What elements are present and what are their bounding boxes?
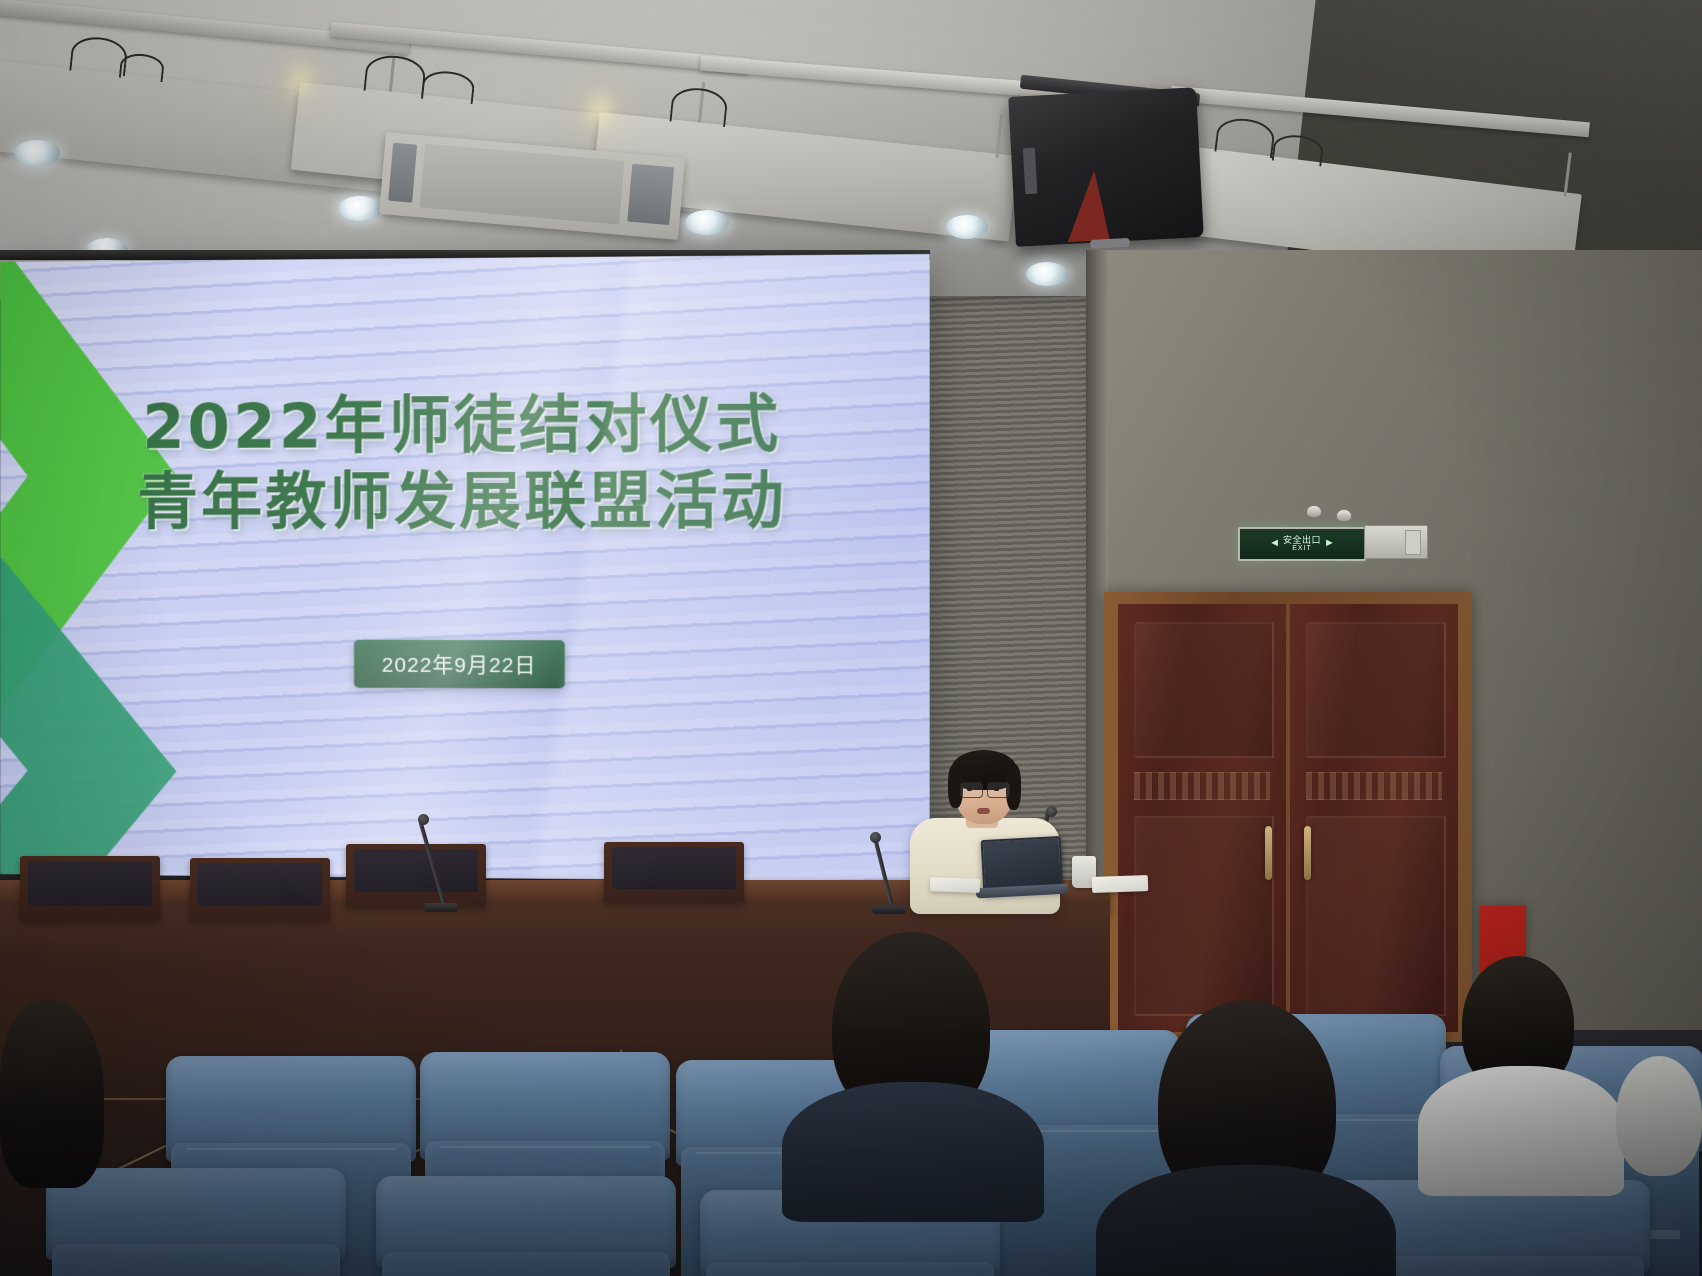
microphone[interactable] (424, 812, 464, 912)
conference-hall-photo: ◄ 安全出口 EXIT ► 2022年师徒结对仪式 青年教师发展联盟 (0, 0, 1702, 1276)
door-handle-left[interactable] (1265, 826, 1272, 880)
presenter-eye (967, 788, 972, 791)
exit-sign: ◄ 安全出口 EXIT ► (1238, 527, 1366, 561)
audience-person (1462, 956, 1574, 1092)
audience-shoulders (1418, 1066, 1624, 1196)
door-right[interactable] (1290, 604, 1458, 1032)
audience-person (1616, 1056, 1702, 1176)
seat-number-tag (1646, 1230, 1680, 1239)
downlight (1026, 262, 1068, 286)
downlight (946, 215, 988, 239)
ceiling-speaker (1008, 87, 1204, 247)
exit-arrow-right-icon: ► (1324, 538, 1335, 549)
door-panel (1134, 622, 1274, 758)
audience-shoulders (782, 1082, 1044, 1222)
door-handle-right[interactable] (1304, 826, 1311, 880)
stage-chair[interactable] (346, 844, 486, 906)
stage-chair[interactable] (190, 858, 330, 920)
exit-sign-label-en: EXIT (1292, 545, 1312, 552)
exit-arrow-left-icon: ◄ (1269, 538, 1280, 549)
stage-chair[interactable] (604, 842, 744, 902)
downlight (14, 140, 60, 166)
documents[interactable] (1092, 875, 1149, 893)
door-carving (1306, 772, 1442, 800)
led-presentation-screen: 2022年师徒结对仪式 青年教师发展联盟活动 2022年9月22日 (0, 254, 929, 882)
door-panel (1306, 622, 1446, 758)
auditorium-seat[interactable] (376, 1176, 676, 1276)
door-panel (1306, 816, 1446, 1016)
exit-sign-label-cn: 安全出口 (1283, 536, 1321, 545)
audience-person (0, 1000, 104, 1188)
speaker-red-marking (1064, 170, 1110, 242)
stage-chair[interactable] (20, 856, 160, 920)
emergency-lamp-icon (1336, 509, 1352, 522)
documents[interactable] (930, 877, 980, 893)
audience-person (832, 932, 990, 1122)
downlight (338, 196, 382, 221)
emergency-light-unit (1364, 525, 1428, 559)
audience-person (1158, 1000, 1336, 1210)
door-left[interactable] (1118, 604, 1286, 1032)
emergency-lamp-icon (1306, 505, 1322, 518)
presenter-eye (994, 788, 999, 791)
door-carving (1134, 772, 1270, 800)
door-panel (1134, 816, 1274, 1016)
presenter-mouth (977, 808, 990, 814)
downlight (685, 210, 729, 235)
